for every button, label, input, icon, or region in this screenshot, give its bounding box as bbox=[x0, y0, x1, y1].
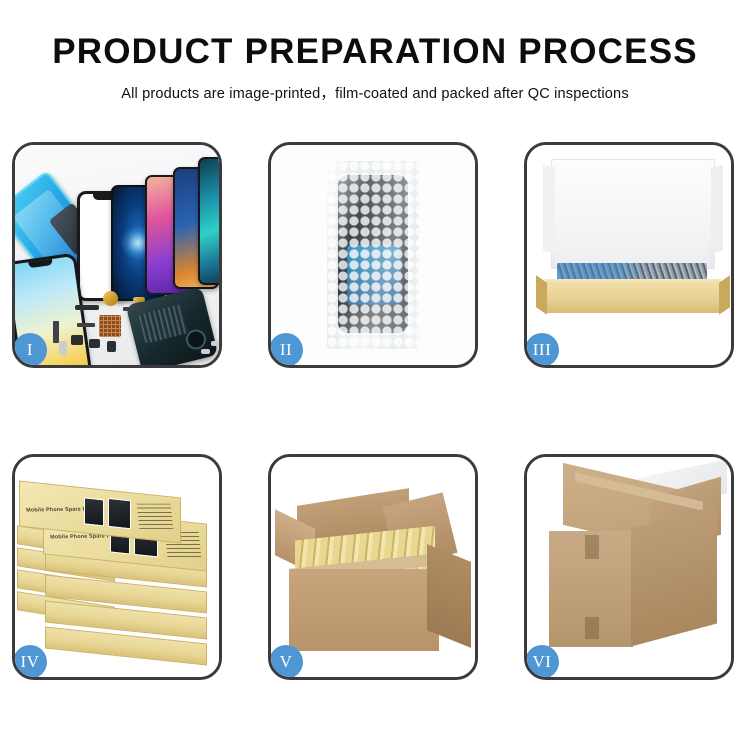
flex-cable-icon bbox=[77, 323, 95, 327]
step-2-image: II bbox=[271, 145, 475, 365]
notch-icon bbox=[28, 259, 53, 268]
step-badge-4: IV bbox=[15, 645, 47, 677]
screen-print-icon bbox=[84, 497, 104, 526]
page-subtitle: All products are image-printed，film-coat… bbox=[0, 71, 750, 103]
step-5-image: V bbox=[271, 457, 475, 677]
process-step-panel-4[interactable]: Mobile Phone Spare Parts Mobile Phone Sp… bbox=[12, 454, 222, 680]
speaker-part-icon bbox=[103, 291, 118, 306]
spec-text-lines bbox=[137, 504, 173, 529]
earpiece-mesh-icon bbox=[75, 305, 99, 310]
page-header: PRODUCT PREPARATION PROCESS All products… bbox=[0, 0, 750, 103]
screen-print-icon bbox=[108, 498, 131, 529]
sim-tray-icon bbox=[59, 341, 67, 355]
camera-module-icon bbox=[89, 339, 100, 348]
vibrator-motor-icon bbox=[71, 335, 83, 345]
carton-right-face-icon bbox=[427, 544, 471, 648]
process-step-panel-3[interactable]: III bbox=[524, 142, 734, 368]
step-6-image: VI bbox=[527, 457, 731, 677]
bubble-wrap-package-icon bbox=[327, 161, 419, 349]
step-badge-5: V bbox=[271, 645, 303, 677]
connector-grid-icon bbox=[99, 315, 121, 337]
step-1-image: I bbox=[15, 145, 219, 365]
kraft-box-front-icon bbox=[545, 285, 721, 313]
screw-set-icon bbox=[201, 349, 210, 354]
process-step-panel-6[interactable]: VI bbox=[524, 454, 734, 680]
carton-front-face-icon bbox=[289, 569, 439, 651]
flex-cable-icon bbox=[123, 307, 141, 311]
process-step-panel-5[interactable]: V bbox=[268, 454, 478, 680]
screw-set-icon bbox=[211, 341, 219, 346]
carton-seam-icon bbox=[585, 535, 599, 559]
page-title: PRODUCT PREPARATION PROCESS bbox=[0, 0, 750, 71]
battery-connector-icon bbox=[107, 341, 116, 352]
step-badge-1: I bbox=[15, 333, 47, 365]
step-3-image: III bbox=[527, 145, 731, 365]
carton-seam-icon bbox=[585, 617, 599, 639]
step-badge-2: II bbox=[271, 333, 303, 365]
side-flex-icon bbox=[53, 321, 59, 343]
foam-lining-icon bbox=[555, 205, 709, 267]
process-step-panel-1[interactable]: I bbox=[12, 142, 222, 368]
process-step-panel-2[interactable]: II bbox=[268, 142, 478, 368]
step-4-image: Mobile Phone Spare Parts Mobile Phone Sp… bbox=[15, 457, 219, 677]
gold-contact-icon bbox=[133, 297, 145, 302]
retail-box-stack-icon: Mobile Phone Spare Parts Mobile Phone Sp… bbox=[15, 457, 219, 677]
process-step-grid: I II III bbox=[12, 142, 740, 684]
step-badge-6: VI bbox=[527, 645, 559, 677]
carton-side-face-icon bbox=[631, 505, 717, 646]
teal-curved-phone-icon bbox=[198, 157, 219, 285]
step-badge-3: III bbox=[527, 333, 559, 365]
plastic-sheen-icon bbox=[327, 161, 419, 349]
